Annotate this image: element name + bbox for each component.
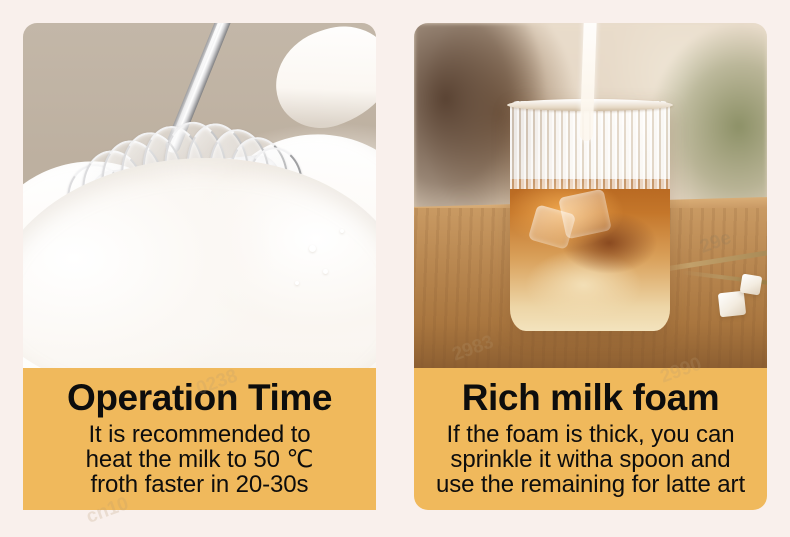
milk-droplet — [323, 269, 328, 274]
caption-line: sprinkle it witha spoon and — [414, 447, 767, 472]
caption-title: Rich milk foam — [414, 376, 767, 420]
caption-line: If the foam is thick, you can — [414, 422, 767, 447]
caption-rich-milk-foam: Rich milk foam If the foam is thick, you… — [414, 368, 767, 510]
milk-pool — [23, 158, 376, 368]
iced-latte-photo — [414, 23, 767, 368]
caption-line: froth faster in 20-30s — [23, 472, 376, 497]
whisk-milk-photo — [23, 23, 376, 368]
milk-droplet — [309, 245, 316, 252]
caption-body: It is recommended to heat the milk to 50… — [23, 422, 376, 497]
feature-card-rich-milk-foam: Rich milk foam If the foam is thick, you… — [414, 23, 767, 510]
milk-droplet — [295, 281, 299, 285]
sugar-cube — [740, 274, 763, 296]
feature-card-operation-time: Operation Time It is recommended to heat… — [23, 23, 376, 510]
caption-body: If the foam is thick, you can sprinkle i… — [414, 422, 767, 497]
caption-line: heat the milk to 50 ℃ — [23, 447, 376, 472]
sugar-cube — [718, 291, 746, 318]
promo-image: Operation Time It is recommended to heat… — [0, 0, 790, 537]
caption-line: It is recommended to — [23, 422, 376, 447]
caption-operation-time: Operation Time It is recommended to heat… — [23, 368, 376, 510]
caption-title: Operation Time — [23, 376, 376, 420]
milk-droplet — [340, 229, 344, 233]
caption-line: use the remaining for latte art — [414, 472, 767, 497]
